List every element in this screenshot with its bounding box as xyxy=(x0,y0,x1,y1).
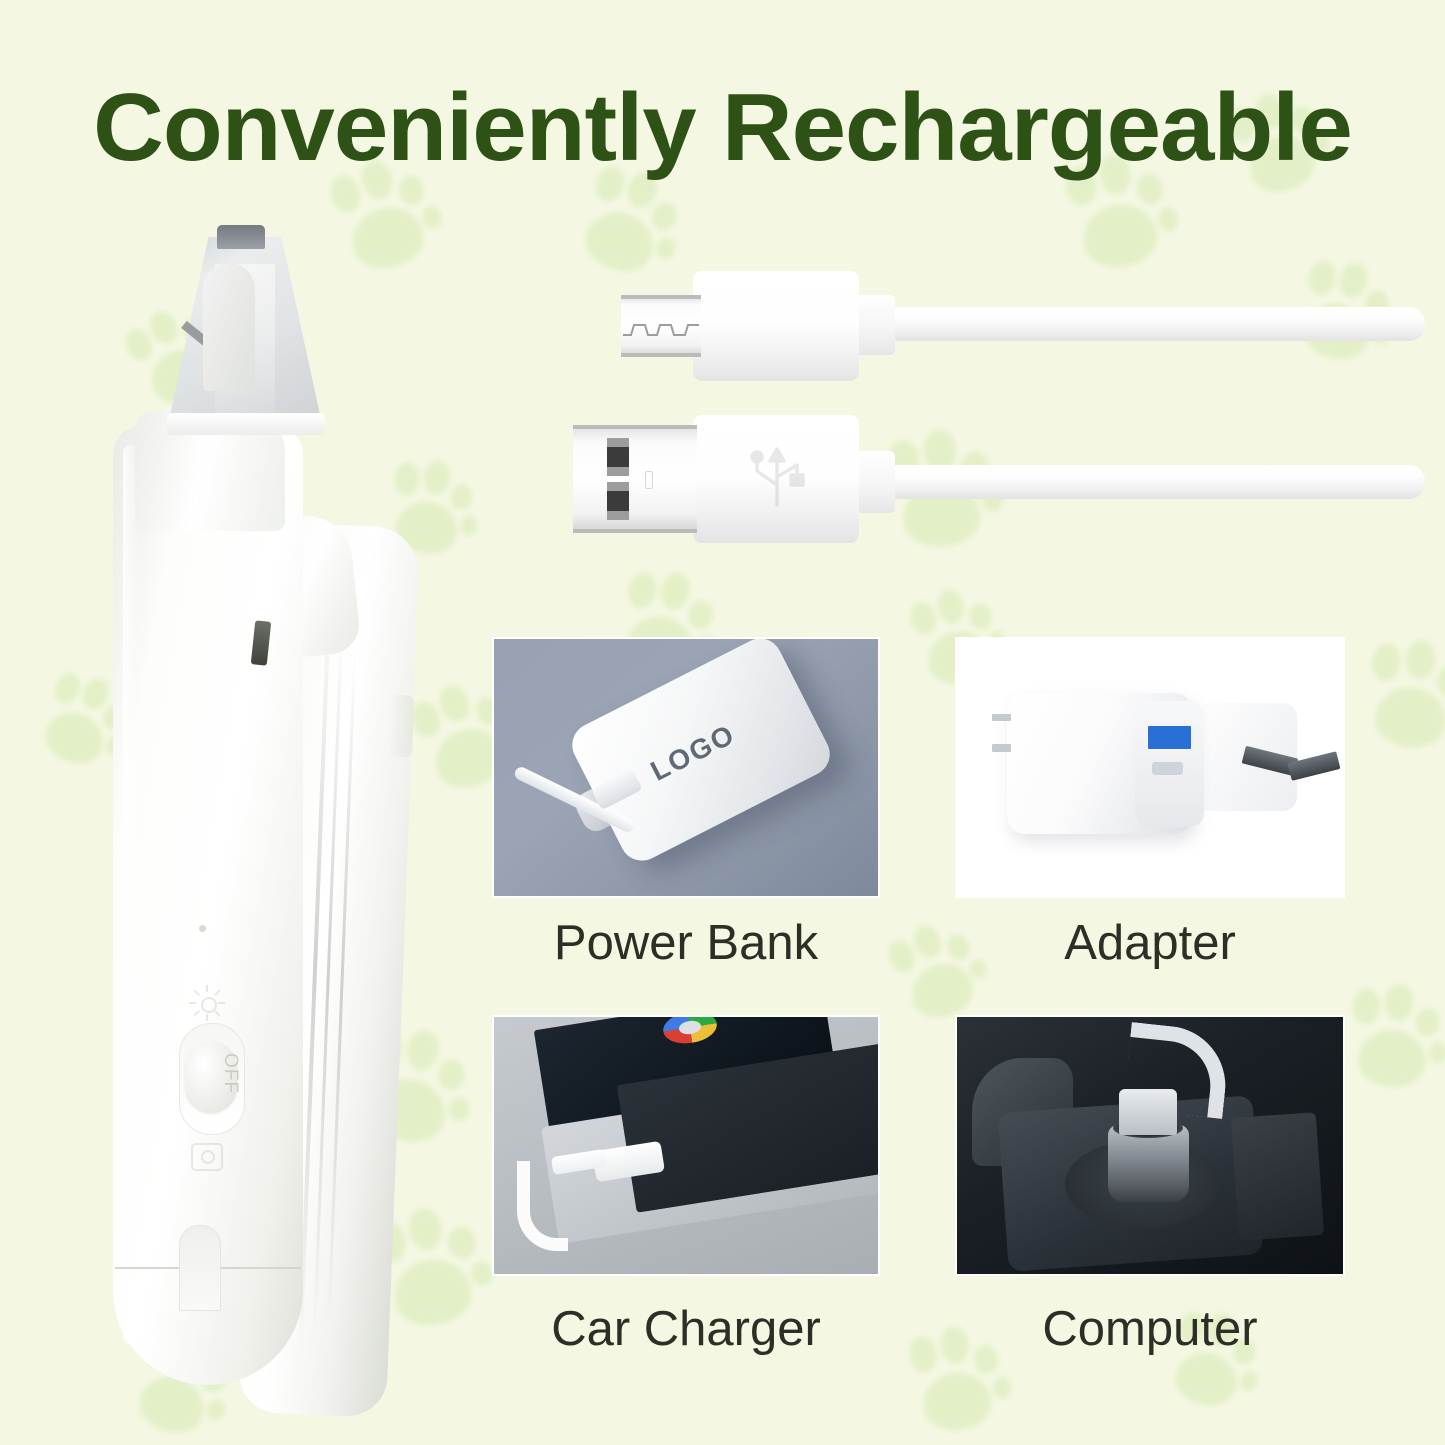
usb-a-metal-shell xyxy=(573,425,697,533)
usb-contact-pad-upper xyxy=(607,447,629,467)
charging-option-card: Adapter xyxy=(955,637,1345,898)
cable-wire xyxy=(883,465,1425,499)
charging-option-card: LOGO Power Bank xyxy=(492,637,880,898)
switch-off-label: OFF xyxy=(219,1053,241,1094)
adapter-pin-bottom xyxy=(992,744,1011,752)
metal-bottom-edge xyxy=(621,353,701,357)
micro-usb-notch-icon xyxy=(621,317,701,339)
adapter-pin-top xyxy=(992,714,1011,722)
product-infographic: Conveniently Rechargeable OFF xyxy=(0,0,1445,1445)
usb-contact-pad-lower xyxy=(607,491,629,511)
guard-top-nub xyxy=(217,225,265,249)
micro-usb-connector xyxy=(565,255,1425,395)
car-12v-charger xyxy=(1108,1125,1189,1202)
caption-car-charger: Car Charger xyxy=(432,1305,940,1354)
adapter-usb-a-port xyxy=(1146,724,1192,751)
metal-top-edge xyxy=(573,425,697,429)
usb-slot-marker xyxy=(645,471,653,489)
camera-aperture-icon xyxy=(191,1143,223,1171)
caption-computer: Computer xyxy=(895,1305,1405,1354)
device-side-button[interactable] xyxy=(390,695,414,758)
usb-cable-illustrations xyxy=(565,255,1425,585)
caption-power-bank: Power Bank xyxy=(432,919,940,968)
car-charger-photo xyxy=(492,1015,880,1276)
charging-option-card: Computer xyxy=(955,1015,1345,1276)
charging-option-card: Car Charger xyxy=(492,1015,880,1276)
caption-adapter: Adapter xyxy=(895,919,1405,968)
usb-a-connector xyxy=(565,403,1425,553)
clipper-blade-head xyxy=(203,263,255,391)
device-led-indicator xyxy=(199,925,206,932)
pet-nail-grinder-product-image: OFF xyxy=(95,225,435,1385)
usb-trident-icon xyxy=(743,441,811,513)
power-bank-photo: LOGO xyxy=(492,637,880,898)
car-console-panel xyxy=(1231,1112,1324,1241)
adapter-usb-c-port xyxy=(1150,760,1185,777)
guard-base-lip xyxy=(167,413,325,435)
metal-bottom-edge xyxy=(573,529,697,533)
device-bottom-slot xyxy=(179,1225,221,1311)
metal-top-edge xyxy=(621,295,701,299)
adapter-photo xyxy=(955,637,1345,898)
cable-wire xyxy=(883,307,1425,341)
page-title: Conveniently Rechargeable xyxy=(0,80,1445,176)
computer-photo xyxy=(955,1015,1345,1276)
connector-housing xyxy=(693,271,859,381)
light-sun-icon xyxy=(189,985,225,1021)
